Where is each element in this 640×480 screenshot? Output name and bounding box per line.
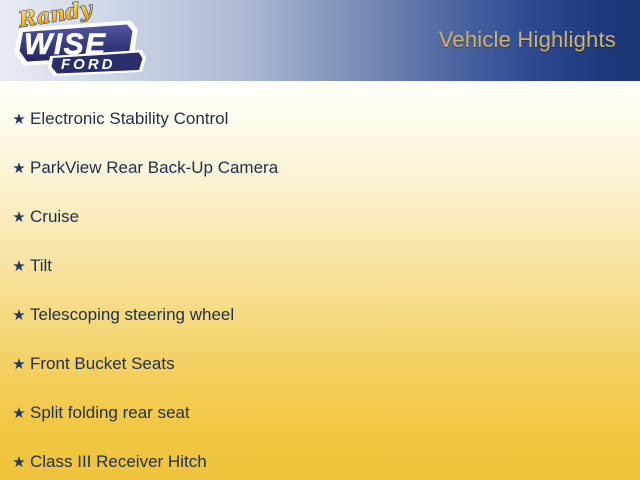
vehicle-highlights-page: WISE FORD Randy Vehicle Highlights ★ Ele… — [0, 0, 640, 480]
list-item-label: Electronic Stability Control — [30, 109, 228, 129]
star-bullet-icon: ★ — [8, 308, 30, 323]
list-item-label: Tilt — [30, 256, 52, 276]
list-item: ★ Front Bucket Seats — [0, 340, 640, 389]
list-item-label: Class III Receiver Hitch — [30, 452, 207, 472]
randy-wise-ford-logo: WISE FORD Randy — [4, 0, 150, 81]
list-item-label: Telescoping steering wheel — [30, 305, 234, 325]
list-item: ★ Split folding rear seat — [0, 389, 640, 438]
list-item: ★ Telescoping steering wheel — [0, 291, 640, 340]
list-item-label: Cruise — [30, 207, 79, 227]
page-title: Vehicle Highlights — [439, 27, 616, 53]
list-item: ★ Cruise — [0, 193, 640, 242]
star-bullet-icon: ★ — [8, 455, 30, 470]
star-bullet-icon: ★ — [8, 406, 30, 421]
star-bullet-icon: ★ — [8, 210, 30, 225]
list-item-label: ParkView Rear Back-Up Camera — [30, 158, 278, 178]
header-band: WISE FORD Randy Vehicle Highlights — [0, 0, 640, 81]
list-item: ★ Electronic Stability Control — [0, 95, 640, 144]
star-bullet-icon: ★ — [8, 357, 30, 372]
list-item: ★ Class III Receiver Hitch — [0, 438, 640, 480]
list-item: ★ Tilt — [0, 242, 640, 291]
star-bullet-icon: ★ — [8, 112, 30, 127]
vehicle-highlights-list: ★ Electronic Stability Control ★ ParkVie… — [0, 81, 640, 480]
svg-text:FORD: FORD — [61, 56, 116, 73]
star-bullet-icon: ★ — [8, 259, 30, 274]
list-item-label: Front Bucket Seats — [30, 354, 175, 374]
star-bullet-icon: ★ — [8, 161, 30, 176]
list-item: ★ ParkView Rear Back-Up Camera — [0, 144, 640, 193]
list-item-label: Split folding rear seat — [30, 403, 190, 423]
